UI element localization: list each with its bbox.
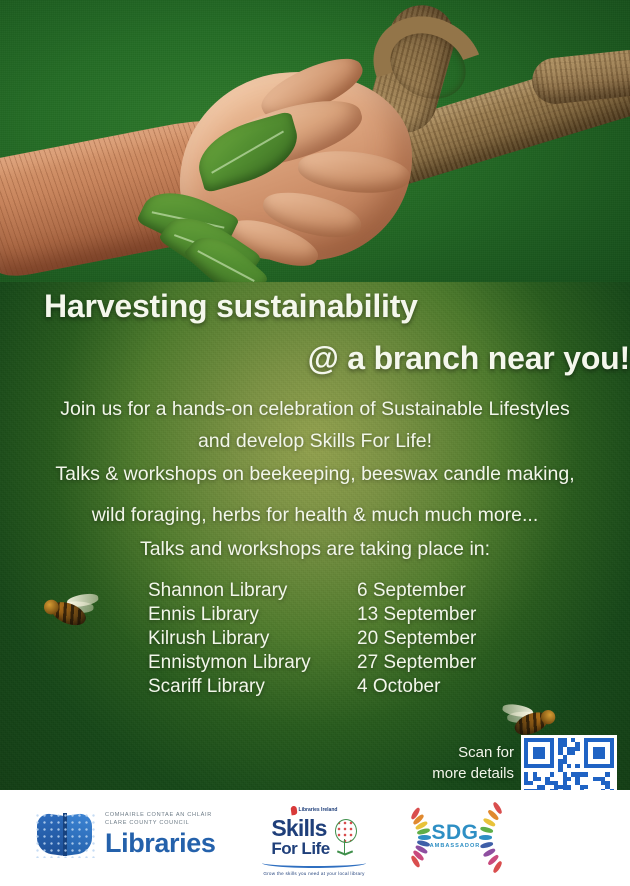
map-pin-icon (290, 806, 297, 816)
swoosh-underline (262, 858, 366, 868)
council-name-english: CLARE COUNTY COUNCIL (105, 819, 215, 828)
sdg-acronym: SDG (405, 822, 505, 843)
hero-image-handshake-with-branch (0, 0, 630, 282)
body-line-1: Join us for a hands-on celebration of Su… (0, 398, 630, 421)
schedule-date: 4 October (357, 676, 440, 698)
skills-word: Skills (271, 817, 329, 840)
libraries-ireland-label: Libraries Ireland (299, 808, 338, 814)
skills-tagline: Grow the skills you need at your local l… (262, 871, 366, 876)
open-book-icon (34, 808, 96, 860)
scan-prompt-line-2: more details (404, 763, 514, 784)
body-line-4: wild foraging, herbs for health & much m… (0, 504, 630, 527)
schedule-date: 13 September (357, 604, 476, 626)
body-line-2: and develop Skills For Life! (0, 430, 630, 453)
headline-line-2: @ a branch near you! (0, 340, 630, 377)
schedule-row: Ennis Library 13 September (148, 604, 508, 628)
poster: Harvesting sustainability @ a branch nea… (0, 0, 630, 886)
body-line-5: Talks and workshops are taking place in: (0, 538, 630, 561)
clare-county-libraries-logo: COMHAIRLE CONTAE AN CHLÁIR CLARE COUNTY … (34, 808, 215, 860)
schedule-row: Scariff Library 4 October (148, 676, 508, 700)
schedule-list: Shannon Library 6 September Ennis Librar… (148, 580, 508, 700)
schedule-library: Scariff Library (148, 676, 357, 698)
schedule-row: Kilrush Library 20 September (148, 628, 508, 652)
scan-prompt-line-1: Scan for (404, 742, 514, 763)
schedule-library: Ennis Library (148, 604, 357, 626)
schedule-library: Kilrush Library (148, 628, 357, 650)
body-line-3: Talks & workshops on beekeeping, beeswax… (0, 463, 630, 486)
council-name-irish: COMHAIRLE CONTAE AN CHLÁIR (105, 811, 215, 819)
libraries-wordmark: Libraries (105, 828, 215, 858)
schedule-date: 27 September (357, 652, 476, 674)
sdg-subtitle: AMBASSADOR (405, 843, 505, 849)
schedule-row: Shannon Library 6 September (148, 580, 508, 604)
skills-for-life-logo: Libraries Ireland Skills For Life Grow t… (262, 804, 366, 876)
headline-line-1: Harvesting sustainability (0, 288, 630, 325)
footer: COMHAIRLE CONTAE AN CHLÁIR CLARE COUNTY … (0, 790, 630, 886)
sdg-ambassador-logo: SDG AMBASSADOR (405, 808, 505, 866)
tree-icon (333, 819, 357, 857)
schedule-library: Shannon Library (148, 580, 357, 602)
schedule-library: Ennistymon Library (148, 652, 357, 674)
schedule-date: 20 September (357, 628, 476, 650)
schedule-date: 6 September (357, 580, 466, 602)
schedule-row: Ennistymon Library 27 September (148, 652, 508, 676)
honeybee-icon (41, 588, 97, 631)
scan-prompt: Scan for more details (404, 742, 514, 784)
for-life-word: For Life (271, 840, 329, 857)
